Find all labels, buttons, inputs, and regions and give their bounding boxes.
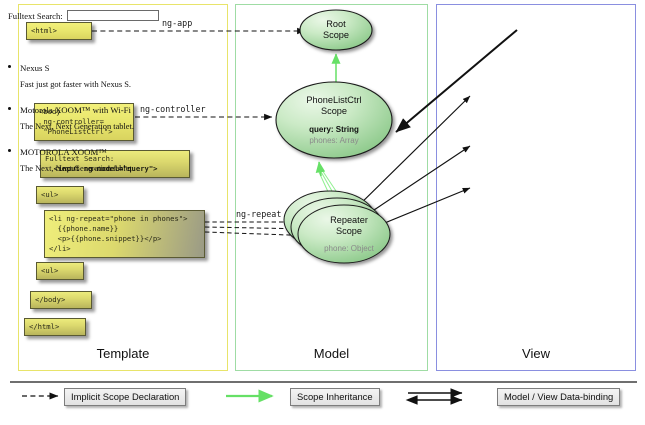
list-item[interactable]: Motorola XOOM™ with Wi-Fi The Next, Next… bbox=[8, 105, 637, 131]
phone-snippet: The Next, Next Generation tablet. bbox=[8, 122, 637, 131]
panel-model-title: Model bbox=[236, 346, 427, 361]
bullet-icon bbox=[8, 149, 11, 152]
view-rendered-page: Fulltext Search: Nexus S Fast just got f… bbox=[8, 10, 637, 173]
panel-template-title: Template bbox=[19, 346, 227, 361]
view-search-label: Fulltext Search: bbox=[8, 11, 63, 21]
phone-name: MOTOROLA XOOM™ bbox=[8, 147, 637, 157]
fulltext-search-input[interactable] bbox=[67, 10, 159, 21]
list-item[interactable]: MOTOROLA XOOM™ The Next, Next Generation… bbox=[8, 147, 637, 173]
code-box-body-close-tag: </body> bbox=[30, 291, 92, 309]
code-box-ul-close-tag: <ul> bbox=[36, 262, 84, 280]
view-search-row: Fulltext Search: bbox=[8, 10, 637, 21]
phone-snippet: The Next, Next Generation tablet. bbox=[8, 164, 637, 173]
code-box-ul-open-tag: <ul> bbox=[36, 186, 84, 204]
diagram-canvas: Template Model View bbox=[0, 0, 645, 425]
panel-view-title: View bbox=[437, 346, 635, 361]
bullet-icon bbox=[8, 65, 11, 68]
legend-label-model-view-data-binding: Model / View Data-binding bbox=[497, 388, 620, 406]
bullet-icon bbox=[8, 107, 11, 110]
legend-label-implicit-scope-declaration: Implicit Scope Declaration bbox=[64, 388, 186, 406]
phone-name: Nexus S bbox=[8, 63, 637, 73]
label-ng-repeat: ng-repeat bbox=[236, 209, 281, 219]
view-phone-list: Nexus S Fast just got faster with Nexus … bbox=[8, 63, 637, 173]
code-box-html-close-tag: </html> bbox=[24, 318, 86, 336]
legend-label-scope-inheritance: Scope Inheritance bbox=[290, 388, 380, 406]
phone-snippet: Fast just got faster with Nexus S. bbox=[8, 80, 637, 89]
code-box-li-ng-repeat: <li ng-repeat="phone in phones"> {{phone… bbox=[44, 210, 205, 258]
phone-name: Motorola XOOM™ with Wi-Fi bbox=[8, 105, 637, 115]
legend-divider-rule bbox=[10, 381, 637, 383]
list-item[interactable]: Nexus S Fast just got faster with Nexus … bbox=[8, 63, 637, 89]
